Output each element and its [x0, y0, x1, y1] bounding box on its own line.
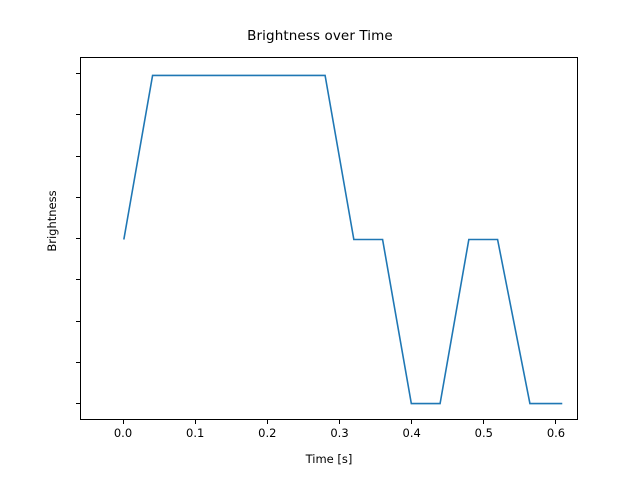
x-tick-label: 0.3 [310, 426, 370, 440]
x-tick-label: 0.5 [454, 426, 514, 440]
x-tick-mark [339, 420, 340, 424]
page-title: Brightness over Time [0, 28, 640, 44]
x-tick-mark [195, 420, 196, 424]
line-series-brightness [81, 58, 577, 419]
x-tick-label: 0.2 [237, 426, 297, 440]
plot-area [80, 57, 578, 420]
x-axis-label: Time [s] [80, 452, 578, 466]
x-tick-label: 0.4 [382, 426, 442, 440]
x-tick-mark [483, 420, 484, 424]
x-tick-mark [555, 420, 556, 424]
x-tick-mark [267, 420, 268, 424]
x-tick-label: 0.6 [526, 426, 586, 440]
figure-canvas: Brightness over Time Brightness Time [s]… [0, 0, 640, 480]
x-tick-mark [123, 420, 124, 424]
series-polyline [124, 75, 562, 403]
x-tick-mark [411, 420, 412, 424]
y-axis-label: Brightness [45, 161, 59, 281]
x-tick-label: 0.1 [165, 426, 225, 440]
x-tick-label: 0.0 [93, 426, 153, 440]
